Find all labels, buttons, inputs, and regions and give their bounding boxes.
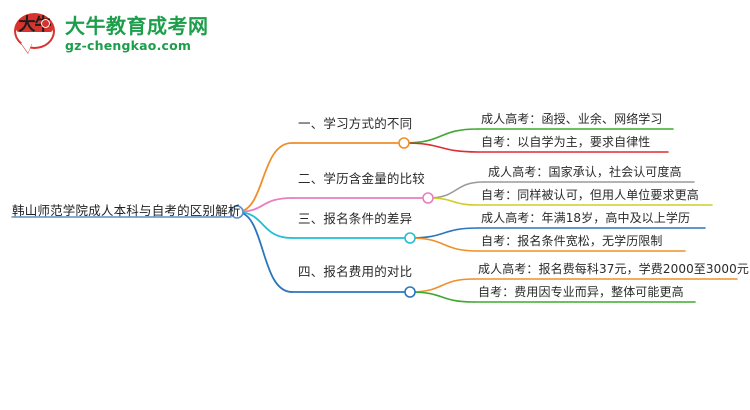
branch-node-label-2[interactable]: 二、学历含金量的比较 bbox=[298, 172, 425, 186]
leaf-node-label-1-2[interactable]: 自考：以自学为主，要求自律性 bbox=[481, 135, 650, 149]
mindmap-page: 大牛 大牛教育成考网 gz-chengkao.com 韩山师范学院成人本科与自考… bbox=[0, 0, 750, 410]
leaf-node-label-4-2[interactable]: 自考：费用因专业而异，整体可能更高 bbox=[478, 285, 684, 299]
leaf-node-label-4-1[interactable]: 成人高考：报名费每科37元，学费2000至3000元 bbox=[478, 262, 749, 276]
branch-node-label-3[interactable]: 三、报名条件的差异 bbox=[298, 212, 412, 226]
branch-node-label-1[interactable]: 一、学习方式的不同 bbox=[298, 117, 412, 131]
leaf-node-label-3-2[interactable]: 自考：报名条件宽松，无学历限制 bbox=[481, 234, 663, 248]
leaf-node-label-1-1[interactable]: 成人高考：函授、业余、网络学习 bbox=[481, 112, 663, 126]
branch-node-label-4[interactable]: 四、报名费用的对比 bbox=[298, 265, 412, 279]
leaf-node-label-2-1[interactable]: 成人高考：国家承认，社会认可度高 bbox=[488, 165, 682, 179]
root-node-label[interactable]: 韩山师范学院成人本科与自考的区别解析 bbox=[12, 204, 241, 218]
leaf-node-label-2-2[interactable]: 自考：同样被认可，但用人单位要求更高 bbox=[481, 188, 699, 202]
leaf-node-label-3-1[interactable]: 成人高考：年满18岁，高中及以上学历 bbox=[481, 211, 690, 225]
